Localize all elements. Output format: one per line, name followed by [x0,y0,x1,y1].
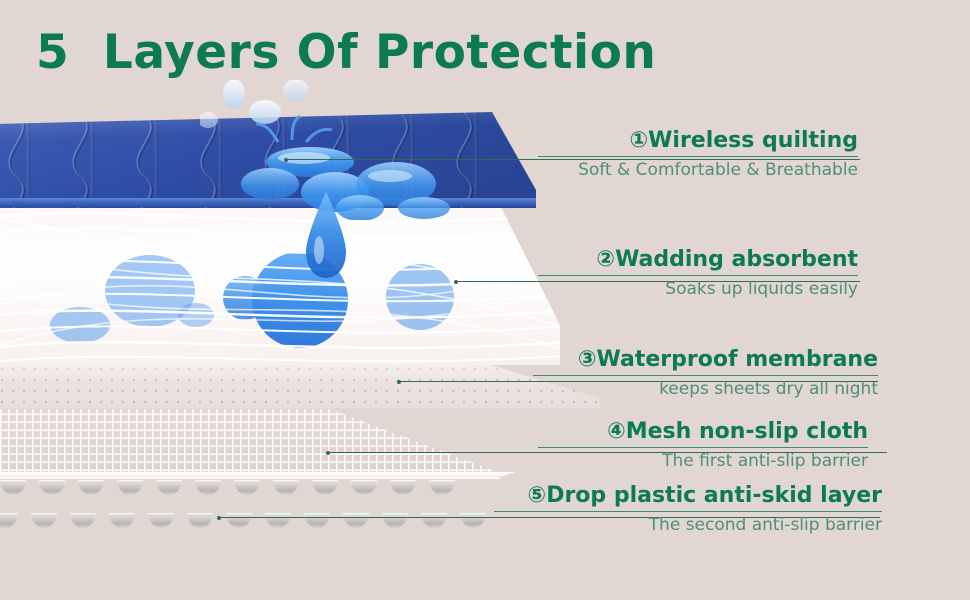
layer-label-3-title: ③Waterproof membrane [533,348,878,373]
layer-name-1: Wireless quilting [648,128,858,153]
layer-label-5: ⑤Drop plastic anti-skid layer The second… [494,484,882,535]
layer-number-2: ② [596,247,615,272]
silicone-dot [421,513,447,528]
silicone-dot [31,513,57,528]
layer-label-1-subtitle: Soft & Comfortable & Breathable [538,160,858,180]
layer-label-5-rule [494,511,882,512]
silicone-dot [343,513,369,528]
wadding-absorbent-layer [0,205,560,365]
silicone-dot [148,513,174,528]
silicone-dot [78,480,104,495]
airborne-droplets [200,80,309,128]
silicone-dot [265,513,291,528]
layer-label-1: ①Wireless quilting Soft & Comfortable & … [538,129,858,180]
silicone-dot [390,480,416,495]
silicone-dot [304,513,330,528]
layer-name-5: Drop plastic anti-skid layer [546,483,882,508]
layer-label-4-title: ④Mesh non-slip cloth [538,420,868,445]
penetrating-water-droplet [292,190,362,300]
page-title: 5 Layers Of Protection [36,28,656,77]
silicone-dot [312,480,338,495]
layer-name-3: Waterproof membrane [597,347,878,372]
silicone-dot [195,480,221,495]
silicone-dot [187,513,213,528]
silicone-dot [460,513,486,528]
layer-label-3: ③Waterproof membrane keeps sheets dry al… [533,348,878,399]
mesh-non-slip-cloth-layer [0,409,520,479]
mesh-layer-bottom-edge [0,472,515,478]
silicone-dot [70,513,96,528]
layer-label-5-subtitle: The second anti-slip barrier [494,515,882,535]
layer-number-5: ⑤ [528,483,547,508]
silicone-dot [234,480,260,495]
layer-number-3: ③ [578,347,597,372]
layer-label-2: ②Wadding absorbent Soaks up liquids easi… [538,248,858,299]
layer-name-2: Wadding absorbent [615,247,858,272]
layer-number-1: ① [630,128,649,153]
silicone-dot [0,480,26,495]
dot-row [0,480,470,502]
silicone-dome-dots-layer [0,480,470,550]
silicone-dot [39,480,65,495]
layer-label-5-title: ⑤Drop plastic anti-skid layer [494,484,882,509]
silicone-dot [109,513,135,528]
layer-label-4: ④Mesh non-slip cloth The first anti-slip… [538,420,868,471]
layer-label-3-subtitle: keeps sheets dry all night [533,379,878,399]
wadding-fiber-strands [0,205,560,365]
layer-label-2-title: ②Wadding absorbent [538,248,858,273]
layer-label-3-rule [533,375,878,376]
layer-label-2-rule [538,275,858,276]
layer-label-1-title: ①Wireless quilting [538,129,858,154]
layer-label-4-subtitle: The first anti-slip barrier [538,451,868,471]
silicone-dot [117,480,143,495]
five-layers-of-protection-infographic: 5 Layers Of Protection ①Wireless quiltin… [0,0,970,600]
silicone-dot [0,513,18,528]
layer-name-4: Mesh non-slip cloth [626,419,868,444]
layer-label-1-rule [538,156,858,157]
silicone-dot [273,480,299,495]
layer-label-4-rule [538,447,868,448]
silicone-dot [351,480,377,495]
silicone-dot [429,480,455,495]
silicone-dot [156,480,182,495]
layer-number-4: ④ [607,419,626,444]
silicone-dot [382,513,408,528]
water-droplets-on-surface [200,80,530,220]
layer-label-2-subtitle: Soaks up liquids easily [538,279,858,299]
silicone-dot [226,513,252,528]
